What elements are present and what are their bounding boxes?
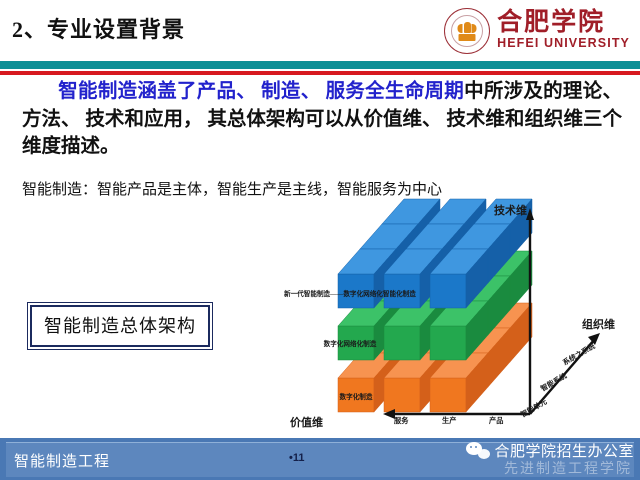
page-number: •11 [289, 452, 304, 464]
wechat-icon [466, 442, 490, 459]
seal-wing-left-icon [458, 24, 463, 33]
page-title: 2、专业设置背景 [12, 12, 185, 44]
wechat-bubble-small-icon [478, 449, 490, 459]
logo-name-en: HEFEI UNIVERSITY [497, 35, 630, 53]
x-tick-service: 服务 [394, 416, 408, 426]
smart-manufacturing-architecture-diagram: 技术维 组织维 价值维 新一代智能制造——数字化网络化智能化制造 数字化网络化制… [282, 198, 640, 436]
seal-base-icon [459, 34, 476, 41]
cube-stack [338, 199, 532, 412]
axis-label-value: 价值维 [290, 414, 323, 430]
seal-torch-icon [464, 22, 471, 33]
x-tick-production: 生产 [442, 416, 456, 426]
seal-wing-right-icon [472, 24, 477, 33]
divider-red [0, 71, 640, 75]
layer-label-1: 数字化制造 [306, 394, 406, 402]
footer-program-label: 智能制造工程 [14, 450, 110, 471]
logo-text: 合肥学院 HEFEI UNIVERSITY [497, 10, 630, 53]
slide: 2、专业设置背景 合肥学院 HEFEI UNIVERSITY 智能制造涵盖了产品… [0, 0, 640, 480]
slide-footer: 智能制造工程 •11 合肥学院招生办公室 先进制造工程学院 [0, 438, 640, 480]
architecture-caption-box: 智能制造总体架构 [30, 305, 210, 347]
university-logo: 合肥学院 HEFEI UNIVERSITY [444, 6, 630, 56]
axis-label-technology: 技术维 [494, 202, 527, 218]
seal-emblem-icon [459, 21, 476, 41]
layer-label-2: 数字化网络化制造 [292, 341, 408, 349]
slide-header: 2、专业设置背景 合肥学院 HEFEI UNIVERSITY [0, 0, 640, 60]
subtitle-line: 智能制造：智能产品是主体，智能生产是主线，智能服务为中心 [22, 178, 442, 199]
paragraph-highlight: 智能制造涵盖了产品、 制造、 服务全生命周期 [58, 81, 464, 102]
university-seal-icon [444, 8, 490, 54]
x-tick-product: 产品 [489, 416, 503, 426]
main-paragraph: 智能制造涵盖了产品、 制造、 服务全生命周期中所涉及的理论、 方法、 技术和应用… [22, 78, 622, 161]
logo-name-cn: 合肥学院 [497, 10, 630, 35]
watermark-subtitle: 先进制造工程学院 [504, 458, 632, 478]
divider-teal [0, 61, 640, 69]
axis-label-organization: 组织维 [582, 316, 615, 332]
layer-label-3: 新一代智能制造——数字化网络化智能化制造 [284, 291, 408, 299]
